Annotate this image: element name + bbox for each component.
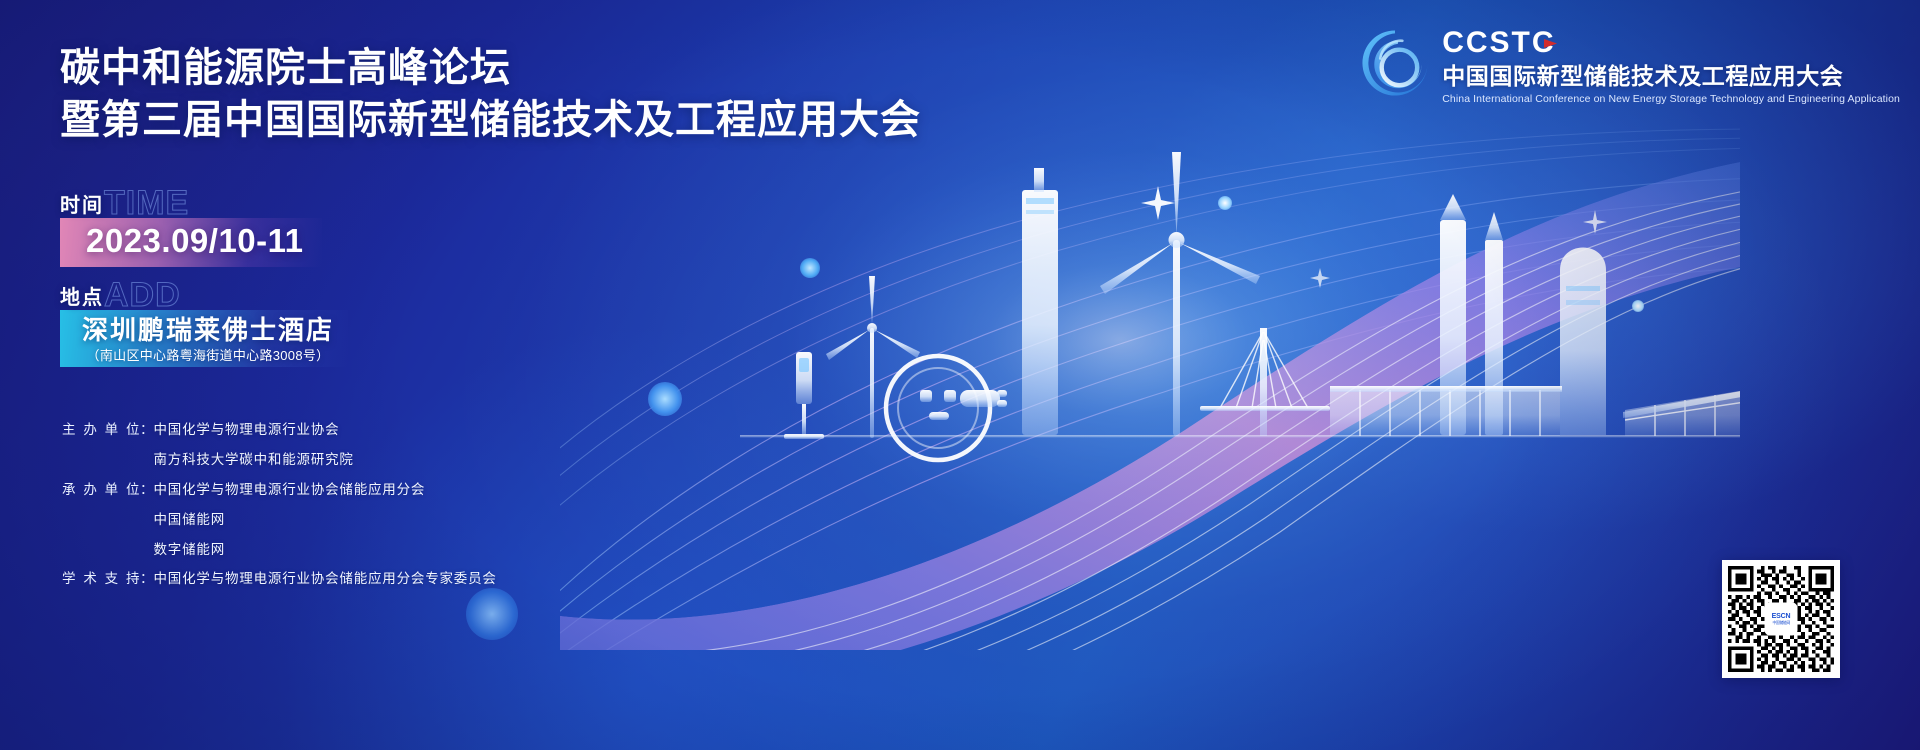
organiser-value: 南方科技大学碳中和能源研究院	[154, 452, 354, 469]
organiser-row: 主办单位 ： 南方科技大学碳中和能源研究院	[62, 448, 682, 469]
organiser-key: 承办单位	[62, 482, 140, 499]
qr-center-logo: ESCN 中国储能网	[1766, 604, 1796, 634]
logo-english-name: China International Conference on New En…	[1442, 93, 1900, 106]
logo-chinese-name: 中国国际新型储能技术及工程应用大会	[1442, 63, 1900, 89]
organiser-colon: ：	[140, 418, 154, 438]
organiser-list: 主办单位 ： 中国化学与物理电源行业协会 主办单位 ： 南方科技大学碳中和能源研…	[62, 418, 682, 597]
left-content: 碳中和能源院士高峰论坛 暨第三届中国国际新型储能技术及工程应用大会 时间 TIM…	[0, 0, 1000, 750]
organiser-value: 中国化学与物理电源行业协会储能应用分会专家委员会	[154, 571, 497, 588]
time-label-group: 时间 TIME	[60, 186, 322, 216]
time-value: 2023.09/10-11	[86, 222, 304, 259]
place-block: 地点 ADD 深圳鹏瑞莱佛士酒店 （南山区中心路粤海街道中心路3008号）	[60, 278, 348, 367]
bokeh-dot	[1218, 196, 1232, 210]
venue-address: （南山区中心路粤海街道中心路3008号）	[82, 348, 334, 364]
organiser-value: 中国化学与物理电源行业协会储能应用分会	[154, 482, 426, 499]
logo-text-block: CCSTC 中国国际新型储能技术及工程应用大会 China Internatio…	[1442, 24, 1900, 106]
place-text-wrap: 深圳鹏瑞莱佛士酒店 （南山区中心路粤海街道中心路3008号）	[82, 314, 334, 364]
qr-center-label: ESCN	[1772, 613, 1791, 620]
venue-name: 深圳鹏瑞莱佛士酒店	[82, 314, 334, 347]
organiser-colon: ：	[140, 567, 154, 587]
organiser-row: 主办单位 ： 中国化学与物理电源行业协会	[62, 418, 682, 439]
time-label-ghost: TIME	[104, 186, 189, 220]
organiser-value: 中国化学与物理电源行业协会	[154, 422, 340, 439]
organiser-colon: ：	[140, 478, 154, 498]
organiser-key: 主办单位	[62, 422, 140, 439]
organiser-row: 学术支持 ： 中国化学与物理电源行业协会储能应用分会专家委员会	[62, 567, 682, 588]
place-value-bar: 深圳鹏瑞莱佛士酒店 （南山区中心路粤海街道中心路3008号）	[60, 310, 348, 367]
time-label-cn: 时间	[60, 196, 104, 216]
organiser-row: 承办单位 ： 中国化学与物理电源行业协会储能应用分会	[62, 478, 682, 499]
organiser-row: 承办单位 ： 中国储能网	[62, 508, 682, 529]
logo-red-arrow-icon	[1543, 37, 1559, 51]
banner-title: 碳中和能源院士高峰论坛 暨第三届中国国际新型储能技术及工程应用大会	[60, 42, 960, 146]
ccstc-logo: CCSTC 中国国际新型储能技术及工程应用大会 China Internatio…	[1358, 24, 1900, 106]
bokeh-dot	[1632, 300, 1644, 312]
sparkle-icons	[1141, 186, 1607, 288]
place-label-cn: 地点	[60, 288, 104, 308]
place-label-group: 地点 ADD	[60, 278, 348, 308]
ccstc-swirl-icon	[1358, 26, 1432, 100]
place-label-ghost: ADD	[104, 278, 181, 312]
organiser-value: 中国储能网	[154, 512, 226, 529]
title-line-1: 碳中和能源院士高峰论坛	[60, 42, 960, 94]
title-line-2: 暨第三届中国国际新型储能技术及工程应用大会	[60, 94, 960, 146]
qr-center-sub: 中国储能网	[1772, 621, 1790, 625]
time-value-bar: 2023.09/10-11	[60, 218, 322, 267]
organiser-value: 数字储能网	[154, 542, 226, 559]
logo-abbr-text: CCSTC	[1442, 28, 1555, 58]
banner-background: 碳中和能源院士高峰论坛 暨第三届中国国际新型储能技术及工程应用大会 时间 TIM…	[0, 0, 1920, 750]
organiser-row: 承办单位 ： 数字储能网	[62, 538, 682, 559]
organiser-key: 学术支持	[62, 571, 140, 588]
qr-code[interactable]: ESCN 中国储能网	[1722, 560, 1840, 678]
logo-abbreviation: CCSTC	[1442, 28, 1900, 58]
time-block: 时间 TIME 2023.09/10-11	[60, 186, 322, 267]
